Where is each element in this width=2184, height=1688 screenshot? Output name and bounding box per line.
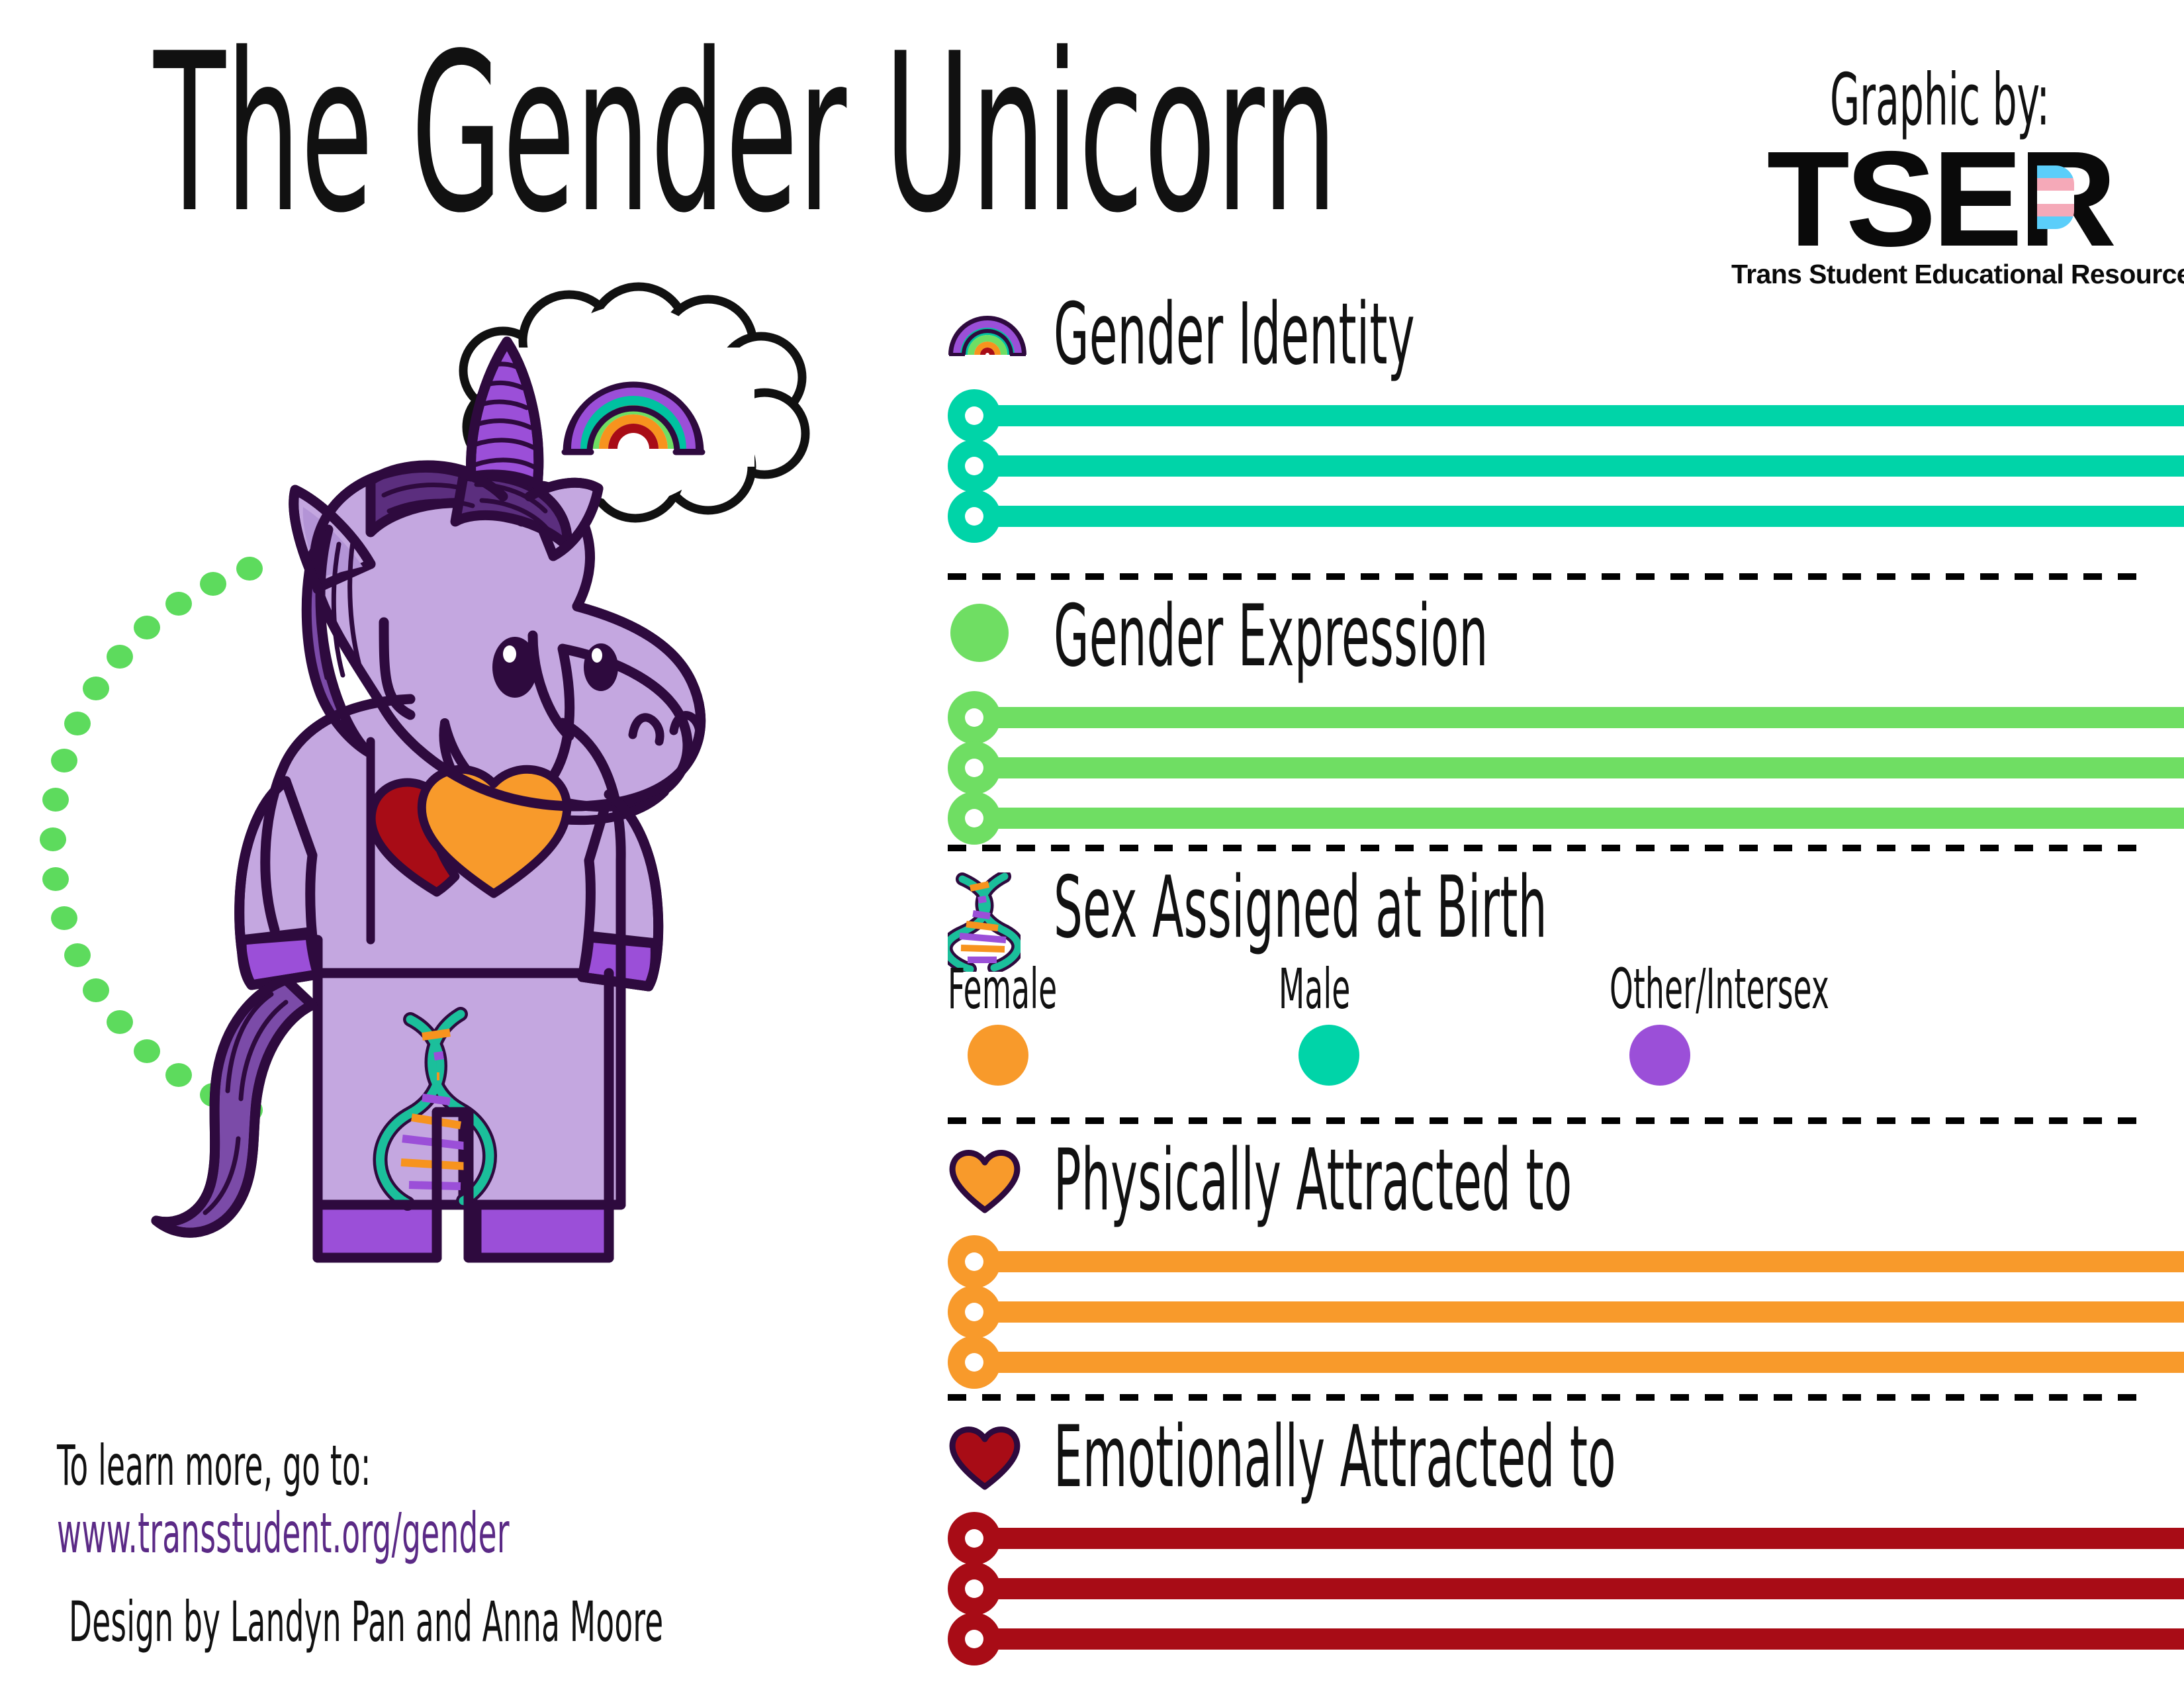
arrow-shaft [986,1352,2184,1373]
section-gender-expression: Gender ExpressionFeminineMasculineOther [948,601,2146,850]
arrow-shaft [986,506,2184,527]
section-title: Emotionally Attracted to [1054,1418,1616,1497]
spectrum-arrow-row[interactable]: Other Gender(s) [948,1620,2146,1658]
design-credit: Design by Landyn Pan and Anna Moore [69,1594,663,1650]
section-heading: Gender Identity [948,299,2146,377]
trans-flag-icon [2037,165,2074,229]
spectrum-arrow-row[interactable]: Men [948,1293,2146,1331]
sex-assigned-label: Other/Intersex [1610,961,1829,1017]
section-title: Gender Expression [1054,597,1488,677]
sex-assigned-dot[interactable] [968,1025,1028,1086]
section-title: Gender Identity [1054,295,1415,375]
sex-assigned-dots [948,1025,2146,1098]
arrow-rows: WomenMenOther Gender(s) [948,1520,2146,1658]
arrow-shaft [986,757,2184,778]
arrow-shaft [986,707,2184,728]
spectrum-arrow-row[interactable]: Other Gender(s) [948,1344,2146,1381]
sex-assigned-labels: FemaleMaleOther/Intersex [948,961,2146,1025]
section-heading: Emotionally Attracted to [948,1422,2146,1500]
green-circle-icon [948,601,1011,668]
spectrum-arrow-row[interactable]: Female/Woman/Girl [948,397,2146,434]
red-heart-icon [948,1422,1022,1494]
section-sex-assigned-at-birth: Sex Assigned at BirthFemaleMaleOther/Int… [948,872,2146,1098]
arrow-shaft [986,1301,2184,1323]
spectrum-arrow-row[interactable]: Feminine [948,699,2146,736]
section-divider [948,573,2151,580]
arrow-shaft [986,405,2184,426]
section-gender-identity: Gender IdentityFemale/Woman/GirlMale/Man… [948,299,2146,548]
sex-assigned-label: Female [948,961,1058,1017]
sex-assigned-label: Male [1279,961,1351,1017]
arrow-shaft [986,1528,2184,1549]
section-divider [948,1117,2151,1124]
section-divider [948,1394,2151,1401]
arrow-rows: Female/Woman/GirlMale/Man/BoyOther Gende… [948,397,2146,535]
arrow-shaft [986,1578,2184,1599]
footer: To learn more, go to: www.transstudent.o… [57,1435,811,1570]
sex-assigned-dot[interactable] [1629,1025,1690,1086]
tser-acronym-row: TSER [1731,136,2148,262]
section-heading: Gender Expression [948,601,2146,679]
rainbow-icon [948,299,1027,356]
section-physically-attracted-to: Physically Attracted toWomenMenOther Gen… [948,1145,2146,1394]
sex-assigned-dot[interactable] [1298,1025,1359,1086]
spectrum-arrow-row[interactable]: Women [948,1520,2146,1557]
section-divider [948,845,2151,851]
tser-acronym: TSER [1731,136,2148,262]
spectrum-arrow-row[interactable]: Women [948,1243,2146,1280]
section-heading: Physically Attracted to [948,1145,2146,1223]
section-emotionally-attracted-to: Emotionally Attracted toWomenMenOther Ge… [948,1422,2146,1671]
gender-unicorn-character [40,278,913,1403]
website-link[interactable]: www.transstudent.org/gender [57,1503,510,1564]
infographic-page: The Gender Unicorn Graphic by: TSER Tran… [0,0,2184,1688]
rainbow-icon [948,299,1027,359]
spectrum-arrow-row[interactable]: Other Gender(s) [948,498,2146,535]
arrow-rows: WomenMenOther Gender(s) [948,1243,2146,1381]
green-circle-icon [948,601,1011,665]
arrow-shaft [986,808,2184,829]
spectrum-arrow-row[interactable]: Masculine [948,749,2146,786]
orange-heart-icon [948,1145,1022,1217]
arrow-shaft [986,1628,2184,1650]
section-heading: Sex Assigned at Birth [948,872,2146,951]
spectrum-arrow-row[interactable]: Male/Man/Boy [948,447,2146,485]
tser-logo: Graphic by: TSER Trans Student Education… [1731,69,2148,289]
spectrum-arrow-row[interactable]: Men [948,1570,2146,1607]
arrow-shaft [986,1251,2184,1272]
section-title: Physically Attracted to [1054,1141,1572,1221]
section-title: Sex Assigned at Birth [1054,868,1547,948]
orange-heart-icon [948,1145,1022,1214]
arrow-shaft [986,455,2184,477]
red-heart-icon [948,1422,1022,1491]
learn-more-label: To learn more, go to: [57,1435,510,1496]
spectrum-arrow-row[interactable]: Other [948,800,2146,837]
arrow-rows: FeminineMasculineOther [948,699,2146,837]
page-title-text: The Gender Unicorn [154,28,1338,240]
